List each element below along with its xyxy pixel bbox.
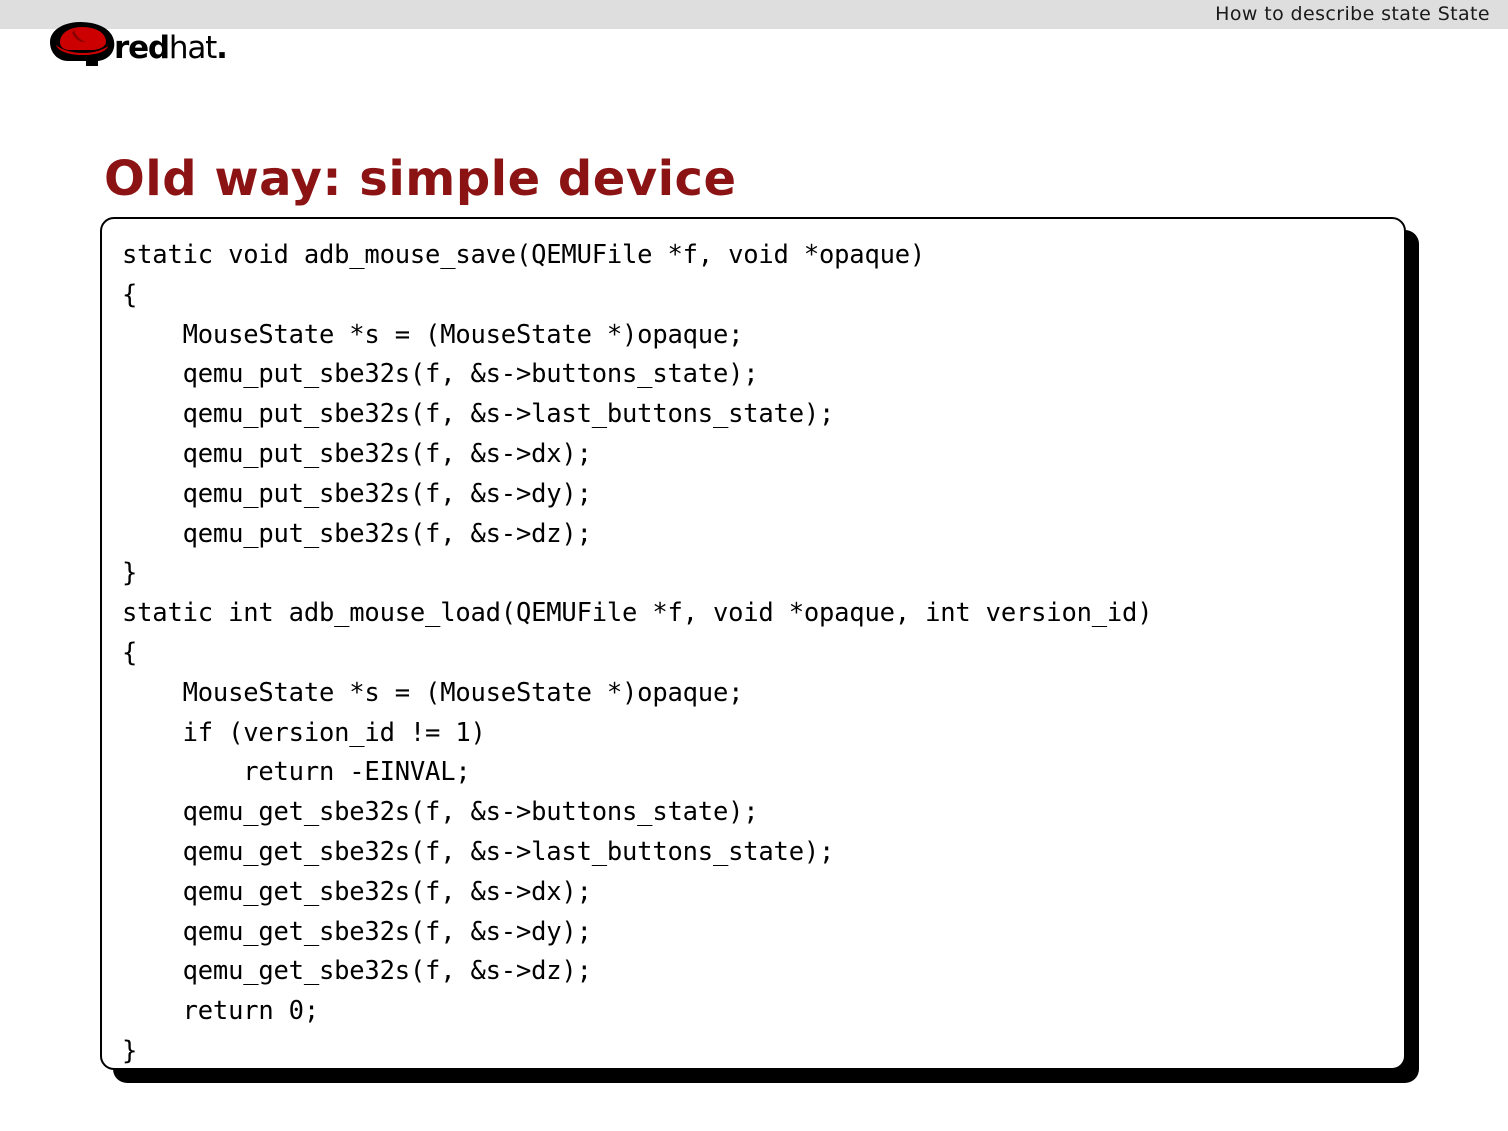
code-line: static void adb_mouse_save(QEMUFile *f, … [122,236,1152,276]
code-line: } [122,1032,1152,1070]
code-line: qemu_get_sbe32s(f, &s->last_buttons_stat… [122,833,1152,873]
code-line: if (version_id != 1) [122,714,1152,754]
code-line: qemu_get_sbe32s(f, &s->dy); [122,913,1152,953]
code-block-container: static void adb_mouse_save(QEMUFile *f, … [100,217,1406,1070]
slide-header-title: How to describe state State [1215,1,1490,28]
wordmark-red: red [114,30,169,66]
redhat-logo: redhat. [46,20,246,72]
code-line: qemu_put_sbe32s(f, &s->buttons_state); [122,355,1152,395]
code-line: static int adb_mouse_load(QEMUFile *f, v… [122,594,1152,634]
code-line: } [122,554,1152,594]
code-line: MouseState *s = (MouseState *)opaque; [122,674,1152,714]
code-block-frame: static void adb_mouse_save(QEMUFile *f, … [100,217,1406,1070]
code-line: return -EINVAL; [122,753,1152,793]
code-line: qemu_get_sbe32s(f, &s->dx); [122,873,1152,913]
redhat-shadowman-icon [46,20,120,70]
code-line: qemu_get_sbe32s(f, &s->buttons_state); [122,793,1152,833]
page-title: Old way: simple device [104,150,737,208]
code-line: qemu_put_sbe32s(f, &s->last_buttons_stat… [122,395,1152,435]
code-line: MouseState *s = (MouseState *)opaque; [122,316,1152,356]
code-line: { [122,634,1152,674]
redhat-wordmark: redhat. [114,32,227,65]
code-line: qemu_get_sbe32s(f, &s->dz); [122,952,1152,992]
code-line: { [122,276,1152,316]
code-line: qemu_put_sbe32s(f, &s->dy); [122,475,1152,515]
wordmark-dot: . [216,30,227,66]
code-listing: static void adb_mouse_save(QEMUFile *f, … [122,236,1152,1070]
code-line: return 0; [122,992,1152,1032]
code-line: qemu_put_sbe32s(f, &s->dz); [122,515,1152,555]
wordmark-hat: hat [169,30,216,66]
code-line: qemu_put_sbe32s(f, &s->dx); [122,435,1152,475]
